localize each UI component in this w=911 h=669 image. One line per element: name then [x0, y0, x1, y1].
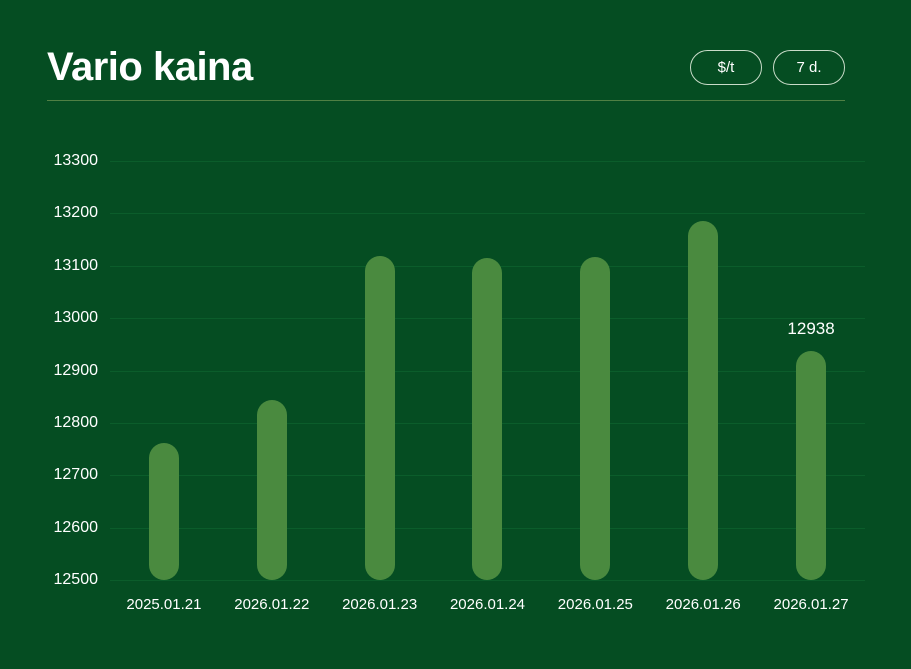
- y-axis-tick-label: 13200: [54, 204, 99, 222]
- header-divider: [47, 100, 845, 101]
- y-axis-tick-label: 12700: [54, 466, 99, 484]
- y-axis-tick-label: 13000: [54, 309, 99, 327]
- bar-chart: 1330013200131001300012900128001270012600…: [0, 120, 911, 640]
- y-axis-tick-label: 12600: [54, 519, 99, 537]
- bar-value-label: 12938: [787, 319, 834, 339]
- bar[interactable]: [688, 221, 718, 580]
- bar[interactable]: [472, 258, 502, 580]
- bar-slot[interactable]: 129382026.01.27: [757, 161, 865, 580]
- x-axis-tick-label: 2026.01.27: [774, 596, 849, 613]
- bar-slot[interactable]: 2025.01.21: [110, 161, 218, 580]
- gridline: [110, 580, 865, 581]
- bar[interactable]: [149, 443, 179, 580]
- chart-toggle-group: $/t 7 d.: [690, 50, 845, 85]
- bar[interactable]: [796, 351, 826, 580]
- bar-slot[interactable]: 2026.01.26: [649, 161, 757, 580]
- page-title: Vario kaina: [47, 47, 253, 87]
- bar-slot[interactable]: 2026.01.22: [218, 161, 326, 580]
- y-axis-tick-label: 12900: [54, 362, 99, 380]
- x-axis-tick-label: 2025.01.21: [126, 596, 201, 613]
- x-axis-tick-label: 2026.01.26: [666, 596, 741, 613]
- x-axis-tick-label: 2026.01.24: [450, 596, 525, 613]
- y-axis-tick-label: 13300: [54, 152, 99, 170]
- y-axis-tick-label: 13100: [54, 257, 99, 275]
- plot-area: 1330013200131001300012900128001270012600…: [110, 161, 865, 580]
- x-axis-tick-label: 2026.01.25: [558, 596, 633, 613]
- bar-slot[interactable]: 2026.01.24: [434, 161, 542, 580]
- y-axis-tick-label: 12500: [54, 571, 99, 589]
- range-toggle-button[interactable]: 7 d.: [773, 50, 845, 85]
- bar[interactable]: [365, 256, 395, 580]
- bar[interactable]: [580, 257, 610, 580]
- unit-toggle-button[interactable]: $/t: [690, 50, 762, 85]
- bar-slot[interactable]: 2026.01.23: [326, 161, 434, 580]
- x-axis-tick-label: 2026.01.22: [234, 596, 309, 613]
- copper-price-chart-page: Vario kaina $/t 7 d. 1330013200131001300…: [0, 0, 911, 669]
- bar-slot[interactable]: 2026.01.25: [541, 161, 649, 580]
- chart-header: Vario kaina $/t 7 d.: [47, 34, 845, 100]
- y-axis-tick-label: 12800: [54, 414, 99, 432]
- x-axis-tick-label: 2026.01.23: [342, 596, 417, 613]
- bar-series: 2025.01.212026.01.222026.01.232026.01.24…: [110, 161, 865, 580]
- bar[interactable]: [257, 400, 287, 580]
